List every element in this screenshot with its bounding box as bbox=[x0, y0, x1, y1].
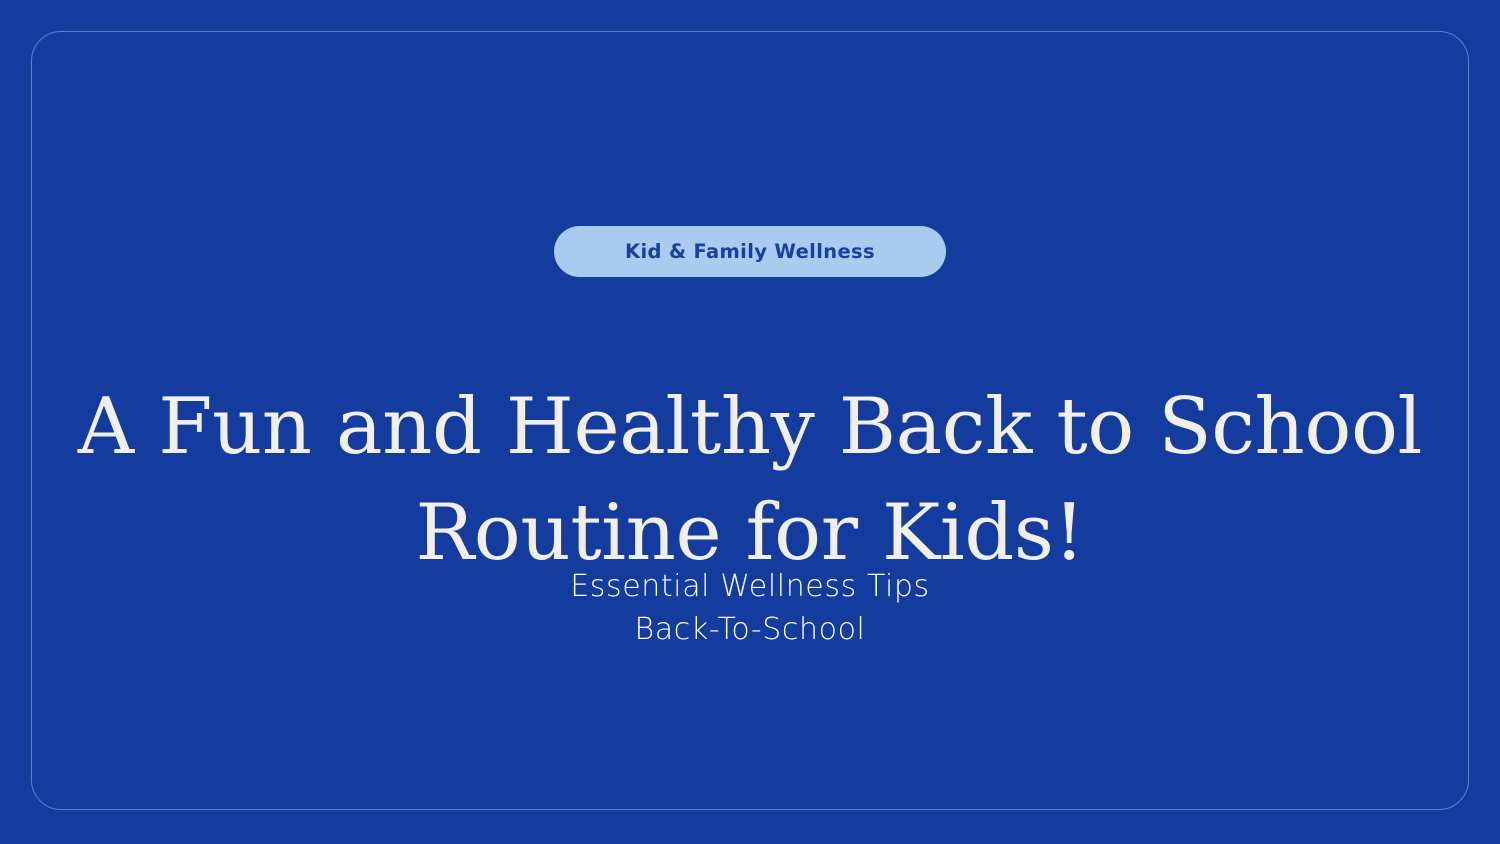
presentation-slide: Kid & Family Wellness A Fun and Healthy … bbox=[0, 0, 1500, 844]
slide-title: A Fun and Healthy Back to School Routine… bbox=[0, 374, 1500, 586]
slide-content: Kid & Family Wellness A Fun and Healthy … bbox=[0, 0, 1500, 844]
slide-title-line-1: A Fun and Healthy Back to School bbox=[70, 374, 1430, 480]
slide-subtitle: Essential Wellness Tips Back-To-School bbox=[0, 565, 1500, 651]
slide-subtitle-line-1: Essential Wellness Tips bbox=[0, 565, 1500, 608]
category-badge-label: Kid & Family Wellness bbox=[625, 240, 875, 263]
slide-subtitle-line-2: Back-To-School bbox=[0, 608, 1500, 651]
category-badge[interactable]: Kid & Family Wellness bbox=[554, 226, 946, 277]
